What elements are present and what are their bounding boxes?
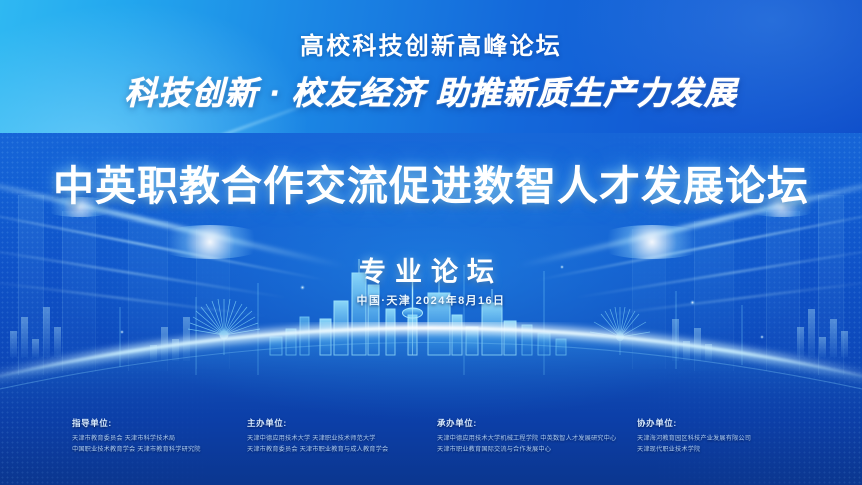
main-forum-title: 中英职教合作交流促进数智人才发展论坛 (0, 152, 862, 212)
footer-org-line: 天津市教育委员会 天津市科学技术局 (72, 434, 247, 445)
forum-kicker-title: 高校科技创新高峰论坛 (0, 26, 862, 61)
sparkle (120, 330, 124, 334)
footer-column-coorganizer: 协办单位: 天津海河教育园区科技产业发展有限公司 天津现代职业技术学院 (637, 417, 817, 485)
footer-organizations: 指导单位: 天津市教育委员会 天津市科学技术局 中国职业技术教育学会 天津市教育… (0, 403, 862, 485)
footer-org-line: 天津市教育委员会 天津市职业教育与成人教育学会 (247, 445, 437, 456)
header-band: 高校科技创新高峰论坛 科技创新 · 校友经济 助推新质生产力发展 (0, 0, 862, 133)
footer-heading: 指导单位: (72, 417, 247, 429)
footer-heading: 承办单位: (437, 417, 637, 429)
forum-slogan: 科技创新 · 校友经济 助推新质生产力发展 (0, 68, 862, 114)
sub-forum-label: 专业论坛 (0, 250, 862, 289)
location-date-line: 中国·天津 2024年8月16日 (0, 292, 862, 308)
footer-org-line: 天津市职业教育国际交流与合作发展中心 (437, 445, 637, 456)
bar-cluster (150, 317, 190, 361)
footer-heading: 主办单位: (247, 417, 437, 429)
bar-cluster (797, 309, 848, 357)
footer-org-line: 天津现代职业技术学院 (637, 445, 817, 456)
footer-column-host: 承办单位: 天津中德应用技术大学机械工程学院 中英数智人才发展研究中心 天津市职… (437, 417, 637, 485)
footer-org-line: 天津中德应用技术大学机械工程学院 中英数智人才发展研究中心 (437, 434, 637, 445)
bar-cluster (672, 319, 712, 361)
footer-column-guidance: 指导单位: 天津市教育委员会 天津市科学技术局 中国职业技术教育学会 天津市教育… (72, 417, 247, 485)
footer-org-line: 天津海河教育园区科技产业发展有限公司 (637, 434, 817, 445)
sparkle (760, 335, 764, 339)
footer-org-line: 天津中德应用技术大学 天津职业技术师范大学 (247, 434, 437, 445)
footer-heading: 协办单位: (637, 417, 817, 429)
bar-cluster (10, 307, 61, 357)
footer-org-line: 中国职业技术教育学会 天津市教育科学研究院 (72, 445, 247, 456)
footer-column-organizer: 主办单位: 天津中德应用技术大学 天津职业技术师范大学 天津市教育委员会 天津市… (247, 417, 437, 485)
poster-canvas: 高校科技创新高峰论坛 科技创新 · 校友经济 助推新质生产力发展 中英职教合作交… (0, 0, 862, 485)
